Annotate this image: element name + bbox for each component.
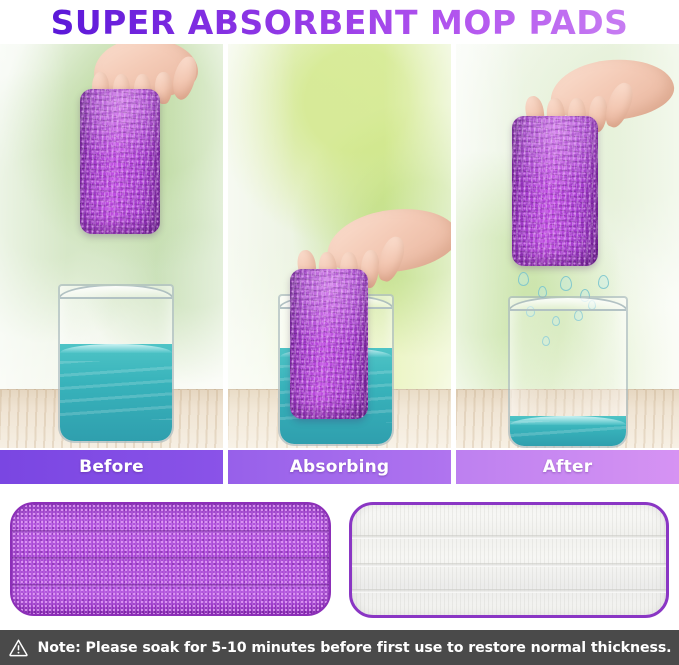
label-before: Before	[0, 450, 223, 484]
label-after: After	[456, 450, 679, 484]
note-bar: Note: Please soak for 5-10 minutes befor…	[0, 630, 679, 665]
white-backing-pad	[349, 502, 670, 612]
purple-microfiber-pad	[10, 502, 331, 612]
page-title: SUPER ABSORBENT MOP PADS	[51, 3, 629, 42]
demo-panels	[0, 44, 679, 448]
panel-before	[0, 44, 223, 448]
stage-label-bars: Before Absorbing After	[0, 450, 679, 484]
rolled-microfiber-pad-icon	[80, 89, 160, 234]
teal-water	[510, 416, 626, 446]
label-absorbing: Absorbing	[228, 450, 451, 484]
mop-pad-gallery	[0, 502, 679, 620]
panel-absorbing	[228, 44, 451, 448]
warning-triangle-icon	[8, 638, 29, 657]
note-text: Note: Please soak for 5-10 minutes befor…	[38, 640, 672, 656]
rolled-microfiber-pad-icon	[290, 269, 368, 419]
water-glass	[508, 296, 628, 448]
water-glass	[58, 284, 174, 443]
product-infographic: SUPER ABSORBENT MOP PADS	[0, 0, 679, 665]
title-band: SUPER ABSORBENT MOP PADS	[0, 0, 679, 44]
rolled-microfiber-pad-icon	[512, 116, 598, 266]
panel-after	[456, 44, 679, 448]
teal-water	[60, 344, 172, 441]
